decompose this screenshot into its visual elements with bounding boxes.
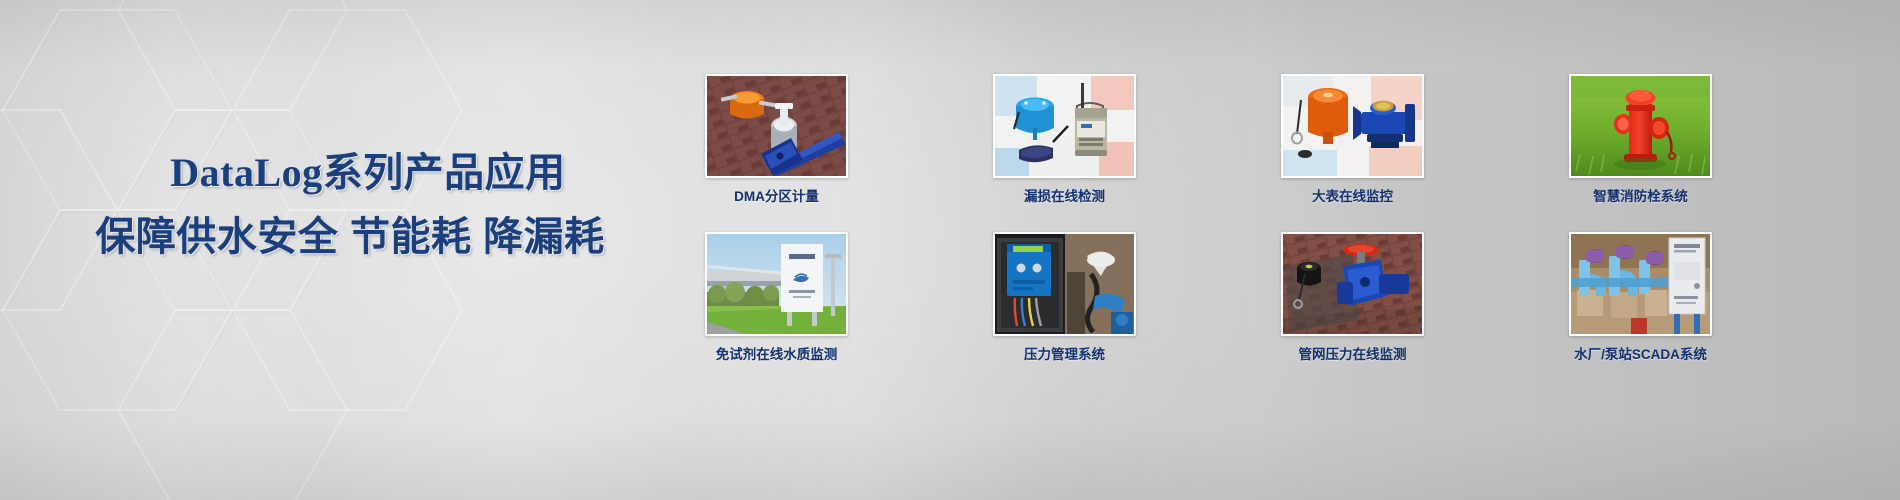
card-caption: DMA分区计量 <box>705 189 848 205</box>
headline-line-2: 保障供水安全 节能耗 降漏耗 <box>0 212 700 262</box>
pressure-management-cabinet-photo <box>995 234 1134 334</box>
reagent-free-water-quality-photo <box>707 234 846 334</box>
headline-product-name: DataLog <box>170 150 322 195</box>
thumbnail-frame <box>1569 232 1712 336</box>
product-application-banner: DataLog系列产品应用 保障供水安全 节能耗 降漏耗 <box>0 0 1900 500</box>
large-meter-monitor-photo <box>1283 76 1422 176</box>
card-caption: 压力管理系统 <box>993 347 1136 363</box>
product-card[interactable]: 免试剂在线水质监测 <box>705 232 848 363</box>
thumbnail-frame <box>1281 232 1424 336</box>
dma-flow-meter-photo <box>707 76 846 176</box>
thumbnail-frame <box>993 232 1136 336</box>
card-caption: 漏损在线检测 <box>993 189 1136 205</box>
smart-fire-hydrant-photo <box>1571 76 1710 176</box>
product-card[interactable]: 智慧消防栓系统 <box>1569 74 1712 205</box>
product-card[interactable]: DMA分区计量 <box>705 74 848 205</box>
card-caption: 管网压力在线监测 <box>1281 347 1424 363</box>
product-card[interactable]: 水厂/泵站SCADA系统 <box>1569 232 1712 363</box>
thumbnail-frame <box>705 74 848 178</box>
card-caption: 水厂/泵站SCADA系统 <box>1569 347 1712 363</box>
product-card[interactable]: 漏损在线检测 <box>993 74 1136 205</box>
card-caption: 智慧消防栓系统 <box>1569 189 1712 205</box>
headline-line-1-cn: 系列产品应用 <box>323 151 566 195</box>
thumbnail-frame <box>705 232 848 336</box>
thumbnail-frame <box>1569 74 1712 178</box>
card-caption: 免试剂在线水质监测 <box>705 347 848 363</box>
product-card[interactable]: 管网压力在线监测 <box>1281 232 1424 363</box>
headline-block: DataLog系列产品应用 保障供水安全 节能耗 降漏耗 <box>0 148 700 262</box>
leak-detection-logger-photo <box>995 76 1134 176</box>
waterworks-pump-scada-photo <box>1571 234 1710 334</box>
product-card[interactable]: 大表在线监控 <box>1281 74 1424 205</box>
product-card-grid: DMA分区计量 <box>705 74 1845 363</box>
pipeline-pressure-monitor-photo <box>1283 234 1422 334</box>
thumbnail-frame <box>993 74 1136 178</box>
card-caption: 大表在线监控 <box>1281 189 1424 205</box>
headline-line-1: DataLog系列产品应用 <box>0 148 700 198</box>
product-card[interactable]: 压力管理系统 <box>993 232 1136 363</box>
thumbnail-frame <box>1281 74 1424 178</box>
